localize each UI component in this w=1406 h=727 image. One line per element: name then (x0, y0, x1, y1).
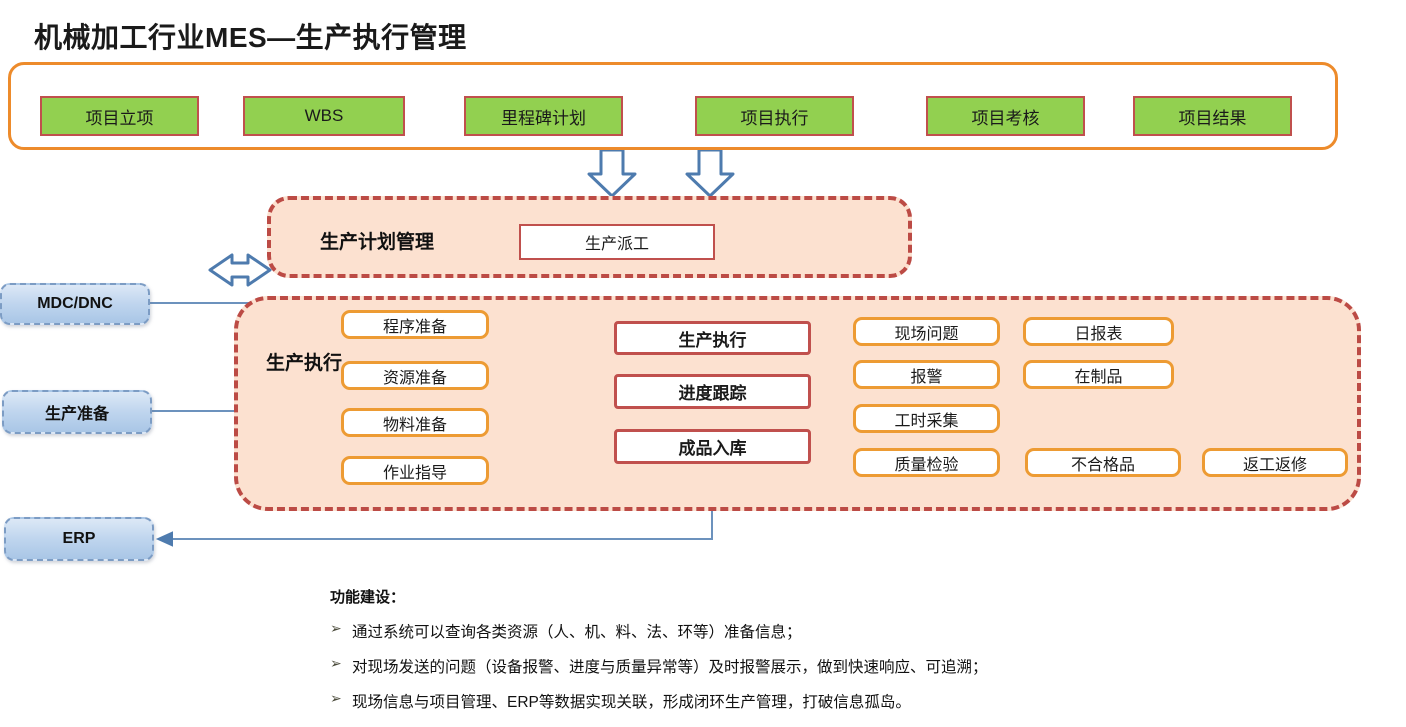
page-title: 机械加工行业MES—生产执行管理 (34, 16, 467, 56)
banner-item-project-initiation[interactable]: 项目立项 (40, 96, 199, 136)
output-item-alarm[interactable]: 报警 (853, 360, 1000, 389)
prep-item-program-preparation[interactable]: 程序准备 (341, 310, 489, 339)
production-plan-title: 生产计划管理 (320, 227, 434, 254)
banner-item-project-execution[interactable]: 项目执行 (695, 96, 854, 136)
bullet-icon: ➢ (330, 620, 352, 637)
notes-heading: 功能建设： (330, 586, 405, 607)
production-execution-title: 生产执行 (266, 348, 342, 375)
note-item-1: ➢ 通过系统可以查询各类资源（人、机、料、法、环等）准备信息； (330, 620, 802, 642)
quality-chain-nonconforming-product[interactable]: 不合格品 (1025, 448, 1181, 477)
down-arrow-1 (589, 150, 635, 196)
external-node-production-preparation[interactable]: 生产准备 (2, 390, 152, 434)
banner-item-project-result[interactable]: 项目结果 (1133, 96, 1292, 136)
bidirectional-arrow (210, 255, 270, 285)
down-arrow-2 (687, 150, 733, 196)
banner-item-project-assessment[interactable]: 项目考核 (926, 96, 1085, 136)
plan-item-dispatch[interactable]: 生产派工 (519, 224, 715, 260)
note-item-2: ➢ 对现场发送的问题（设备报警、进度与质量异常等）及时报警展示，做到快速响应、可… (330, 655, 988, 677)
flow-item-production-execution[interactable]: 生产执行 (614, 321, 811, 355)
banner-item-milestone-plan[interactable]: 里程碑计划 (464, 96, 623, 136)
note-item-3: ➢ 现场信息与项目管理、ERP等数据实现关联，形成闭环生产管理，打破信息孤岛。 (330, 690, 911, 712)
external-node-erp[interactable]: ERP (4, 517, 154, 561)
slide-canvas: 机械加工行业MES—生产执行管理 项目立项 WBS 里程碑计划 项目执行 项目考… (0, 0, 1406, 727)
banner-item-wbs[interactable]: WBS (243, 96, 405, 136)
flow-item-finished-goods-warehousing[interactable]: 成品入库 (614, 429, 811, 464)
note-item-1-text: 通过系统可以查询各类资源（人、机、料、法、环等）准备信息； (352, 620, 802, 642)
prep-item-material-preparation[interactable]: 物料准备 (341, 408, 489, 437)
note-item-3-text: 现场信息与项目管理、ERP等数据实现关联，形成闭环生产管理，打破信息孤岛。 (352, 690, 911, 712)
external-node-mdc-dnc[interactable]: MDC/DNC (0, 283, 150, 325)
bullet-icon: ➢ (330, 655, 352, 672)
report-item-daily-report[interactable]: 日报表 (1023, 317, 1174, 346)
prep-item-work-instruction[interactable]: 作业指导 (341, 456, 489, 485)
output-item-labor-hour-collection[interactable]: 工时采集 (853, 404, 1000, 433)
prep-item-resource-preparation[interactable]: 资源准备 (341, 361, 489, 390)
flow-item-progress-tracking[interactable]: 进度跟踪 (614, 374, 811, 409)
note-item-2-text: 对现场发送的问题（设备报警、进度与质量异常等）及时报警展示，做到快速响应、可追溯… (352, 655, 988, 677)
report-item-work-in-progress[interactable]: 在制品 (1023, 360, 1174, 389)
output-item-onsite-issue[interactable]: 现场问题 (853, 317, 1000, 346)
output-item-quality-inspection[interactable]: 质量检验 (853, 448, 1000, 477)
quality-chain-rework-repair[interactable]: 返工返修 (1202, 448, 1348, 477)
bullet-icon: ➢ (330, 690, 352, 707)
